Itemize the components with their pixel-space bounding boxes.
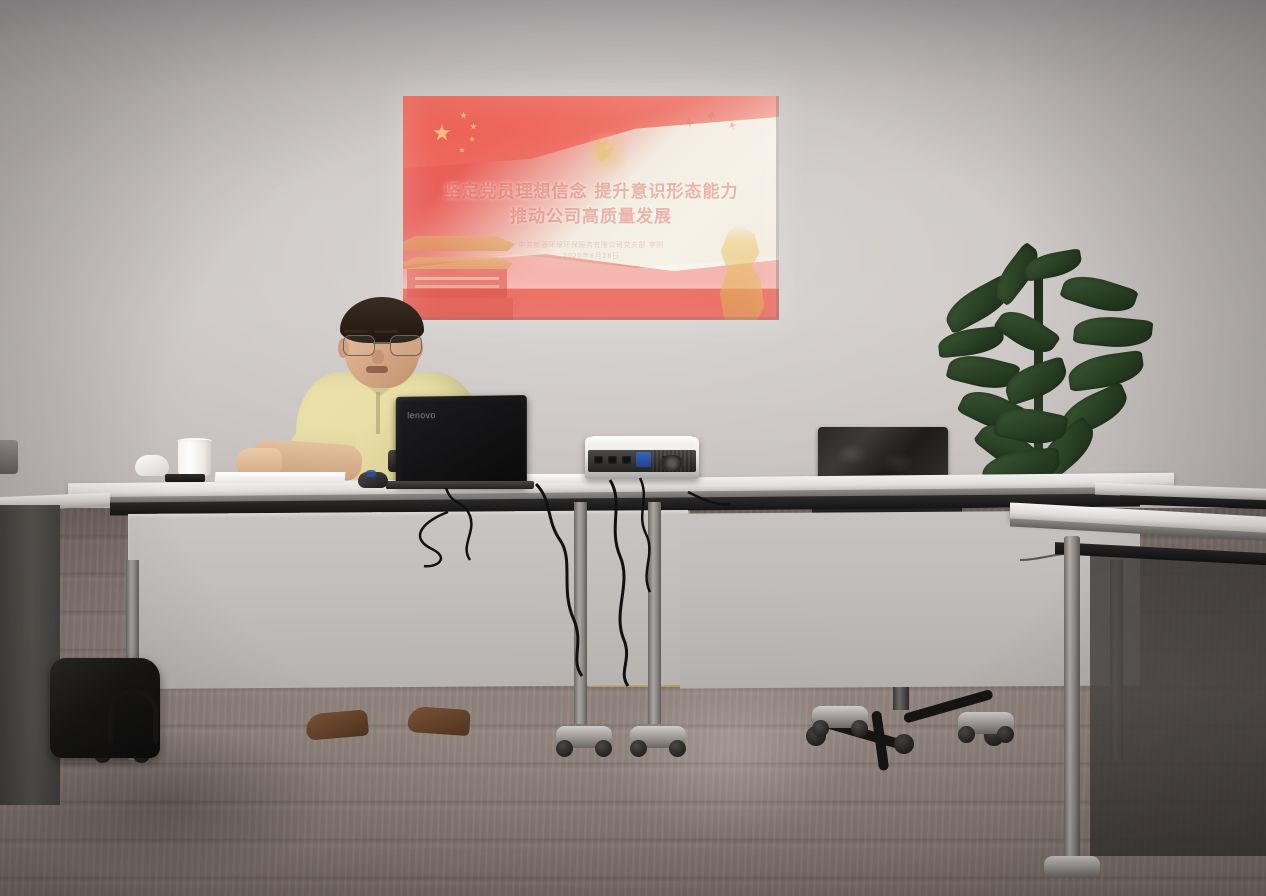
projector-top-cover bbox=[589, 436, 695, 446]
front-right-table-caster bbox=[1044, 856, 1100, 878]
party-emblem-icon bbox=[583, 132, 629, 178]
table-leg bbox=[574, 502, 587, 724]
eyebrow-right bbox=[374, 330, 398, 333]
white-mouse[interactable] bbox=[135, 455, 169, 476]
mobile-phone[interactable] bbox=[165, 474, 205, 482]
polo-placket bbox=[376, 392, 380, 434]
table-caster bbox=[630, 726, 686, 748]
table-caster bbox=[958, 712, 1014, 734]
papers-stack[interactable] bbox=[215, 472, 346, 483]
left-edge-object bbox=[0, 440, 18, 474]
table-caster bbox=[556, 726, 612, 748]
presenter-mouth bbox=[366, 366, 388, 373]
shoe-right bbox=[407, 706, 471, 736]
slide-subtitle-line-1: 中共新通环境环保服务有限公司党支部 李刚 bbox=[403, 240, 779, 251]
laptop-brand-label: lenovo bbox=[407, 410, 436, 420]
projector-vga-port[interactable] bbox=[636, 452, 651, 467]
slide-subtitle: 中共新通环境环保服务有限公司党支部 李刚 2020年8月28日 bbox=[403, 240, 779, 262]
slide-subtitle-line-2: 2020年8月28日 bbox=[403, 251, 779, 262]
front-right-table-leg bbox=[1064, 536, 1080, 866]
laptop-screen[interactable]: lenovo bbox=[396, 395, 527, 487]
bag-strap bbox=[108, 690, 158, 746]
projected-slide: 坚定党员理想信念 提升意识形态能力 推动公司高质量发展 中共新通环境环保服务有限… bbox=[403, 96, 779, 320]
peace-doves-icon bbox=[681, 108, 753, 138]
mouse-indicator-light bbox=[366, 470, 376, 477]
paper-cup[interactable] bbox=[178, 440, 211, 476]
slide-title: 坚定党员理想信念 提升意识形态能力 推动公司高质量发展 bbox=[403, 180, 779, 230]
slide-title-line-1: 坚定党员理想信念 提升意识形态能力 bbox=[444, 182, 739, 202]
eyebrow-left bbox=[344, 330, 368, 333]
table-caster bbox=[812, 706, 868, 728]
projector-exhaust-vent bbox=[660, 455, 684, 471]
right-table-shadow-area bbox=[1090, 556, 1266, 856]
slide-title-line-2: 推动公司高质量发展 bbox=[403, 205, 779, 230]
front-left-table-panel bbox=[0, 505, 60, 805]
laptop-base bbox=[386, 481, 534, 489]
potted-plant bbox=[938, 245, 1150, 495]
table-leg bbox=[648, 502, 661, 724]
back-table-modesty-panel bbox=[128, 510, 688, 689]
china-flag-stars-icon bbox=[413, 106, 523, 164]
eyeglasses-icon bbox=[340, 335, 424, 355]
meeting-room-photo: 坚定党员理想信念 提升意识形态能力 推动公司高质量发展 中共新通环境环保服务有限… bbox=[0, 0, 1266, 896]
